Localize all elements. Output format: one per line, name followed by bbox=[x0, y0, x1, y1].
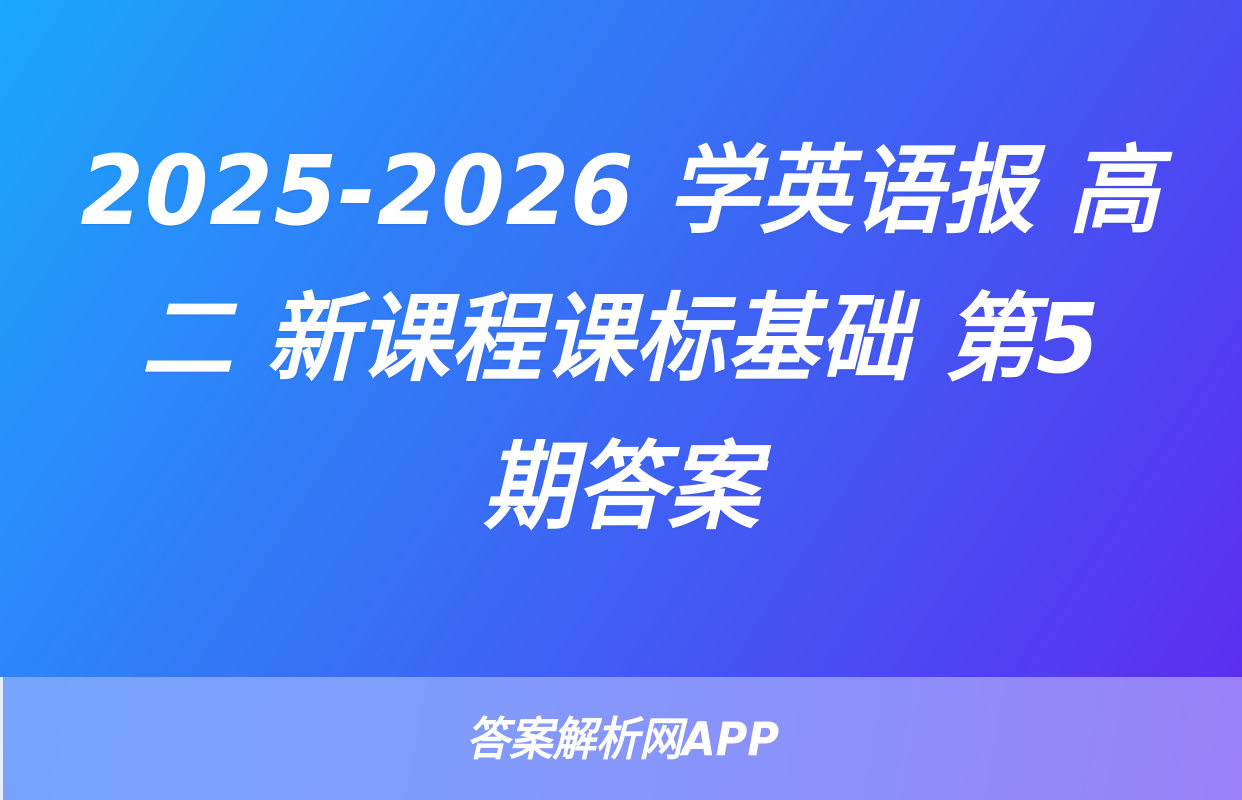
banner-title: 2025-2026 学英语报 高 二 新课程课标基础 第5 期答案 bbox=[0, 0, 1242, 677]
banner-title-line-3: 期答案 bbox=[483, 413, 759, 561]
banner-title-line-1: 2025-2026 学英语报 高 bbox=[81, 117, 1161, 265]
answer-banner: 2025-2026 学英语报 高 二 新课程课标基础 第5 期答案 答案解析网A… bbox=[0, 0, 1242, 800]
footer-watermark-band: 答案解析网APP bbox=[0, 677, 1242, 800]
footer-app-name: 答案解析网APP bbox=[466, 716, 779, 762]
banner-title-line-2: 二 新课程课标基础 第5 bbox=[141, 265, 1100, 413]
